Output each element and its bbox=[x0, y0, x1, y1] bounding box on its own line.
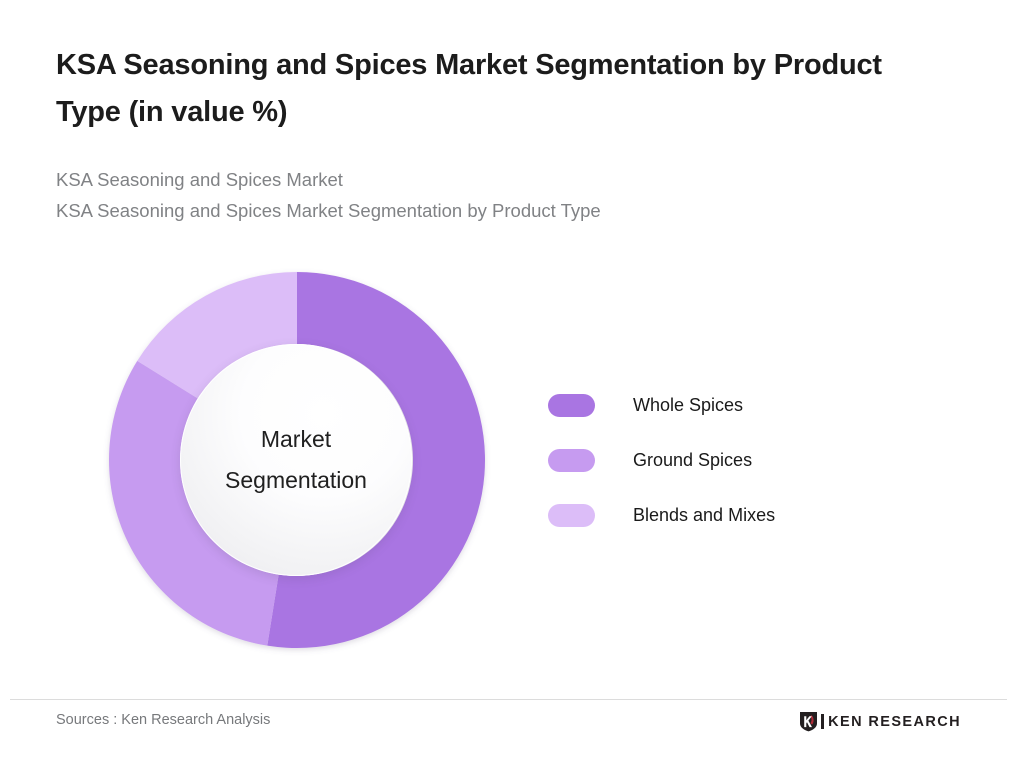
legend-item-whole-spices[interactable]: Whole Spices bbox=[548, 378, 775, 433]
ken-research-logo: KEN RESEARCH bbox=[799, 711, 961, 732]
legend-label: Whole Spices bbox=[633, 395, 743, 416]
chart-legend: Whole Spices Ground Spices Blends and Mi… bbox=[548, 378, 775, 543]
legend-item-ground-spices[interactable]: Ground Spices bbox=[548, 433, 775, 488]
brand-name: KEN RESEARCH bbox=[828, 714, 961, 730]
subtitle-line-2: KSA Seasoning and Spices Market Segmenta… bbox=[56, 195, 896, 226]
legend-swatch-icon bbox=[548, 504, 595, 527]
shield-icon bbox=[799, 711, 818, 732]
sources-note: Sources : Ken Research Analysis bbox=[56, 712, 270, 728]
donut-center-hub: Market Segmentation bbox=[180, 344, 412, 576]
center-label-line-2: Segmentation bbox=[225, 460, 367, 501]
center-label-line-1: Market bbox=[261, 419, 331, 460]
legend-label: Blends and Mixes bbox=[633, 505, 775, 526]
subtitle-line-1: KSA Seasoning and Spices Market bbox=[56, 164, 896, 195]
legend-item-blends-and-mixes[interactable]: Blends and Mixes bbox=[548, 488, 775, 543]
legend-swatch-icon bbox=[548, 394, 595, 417]
legend-label: Ground Spices bbox=[633, 450, 752, 471]
page-title: KSA Seasoning and Spices Market Segmenta… bbox=[56, 42, 886, 136]
legend-swatch-icon bbox=[548, 449, 595, 472]
footer-divider bbox=[10, 699, 1007, 700]
slide-canvas: KSA Seasoning and Spices Market Segmenta… bbox=[0, 0, 1017, 763]
donut-chart: Market Segmentation bbox=[96, 260, 506, 670]
logo-divider-bar bbox=[821, 714, 824, 729]
subtitle-block: KSA Seasoning and Spices Market KSA Seas… bbox=[56, 164, 896, 226]
